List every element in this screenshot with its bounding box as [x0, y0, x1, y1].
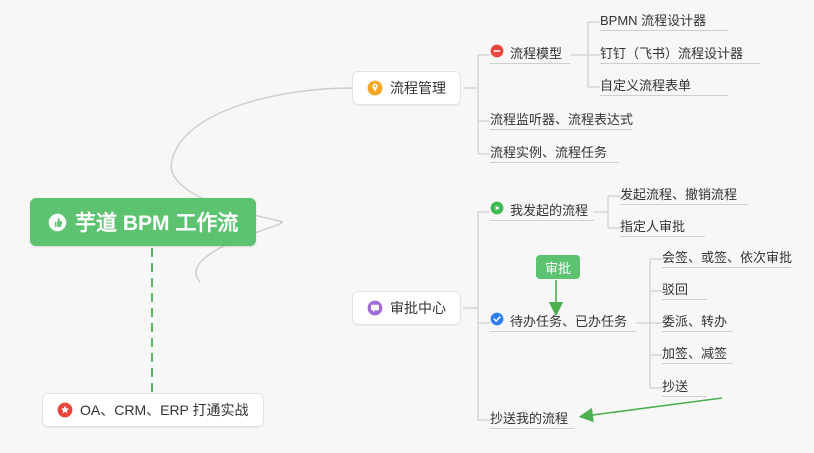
node-cc[interactable]: 抄送 — [662, 376, 707, 397]
node-label: 自定义流程表单 — [600, 75, 691, 94]
node-label: 委派、转办 — [662, 311, 727, 330]
node-listener-expression[interactable]: 流程监听器、流程表达式 — [490, 109, 632, 130]
check-circle-icon — [490, 312, 504, 326]
node-countersign-modes[interactable]: 会签、或签、依次审批 — [662, 247, 791, 268]
node-label: 我发起的流程 — [510, 200, 588, 219]
node-label: 流程管理 — [390, 78, 446, 98]
node-label: 发起流程、撤销流程 — [620, 184, 737, 203]
node-label: 抄送我的流程 — [490, 408, 568, 427]
node-label: 流程实例、流程任务 — [490, 142, 607, 161]
node-cc-to-me[interactable]: 抄送我的流程 — [490, 408, 574, 429]
mindmap-canvas: 芋道 BPM 工作流 流程管理 流程模型 BPMN 流程设计器 钉钉（飞书）流程… — [0, 0, 814, 453]
node-label: 抄送 — [662, 376, 688, 395]
star-circle-icon — [57, 402, 73, 418]
node-label: 会签、或签、依次审批 — [662, 247, 792, 266]
node-todo-done-tasks[interactable]: 待办任务、已办任务 — [490, 311, 636, 332]
node-label: OA、CRM、ERP 打通实战 — [80, 400, 249, 420]
play-circle-icon — [490, 201, 504, 215]
node-label: 流程模型 — [510, 43, 562, 62]
node-bpmn-designer[interactable]: BPMN 流程设计器 — [600, 10, 728, 31]
tag-label: 审批 — [545, 258, 571, 277]
node-custom-form[interactable]: 自定义流程表单 — [600, 75, 728, 96]
node-label: 流程监听器、流程表达式 — [490, 109, 633, 128]
node-process-management[interactable]: 流程管理 — [352, 71, 461, 105]
node-assign-approver[interactable]: 指定人审批 — [620, 216, 705, 237]
tag-approve[interactable]: 审批 — [536, 255, 580, 279]
node-my-started-processes[interactable]: 我发起的流程 — [490, 200, 594, 221]
node-label: 驳回 — [662, 279, 688, 298]
thumbs-up-icon — [48, 213, 67, 232]
root-node[interactable]: 芋道 BPM 工作流 — [30, 198, 256, 246]
node-delegate-transfer[interactable]: 委派、转办 — [662, 311, 733, 332]
node-dingtalk-designer[interactable]: 钉钉（飞书）流程设计器 — [600, 43, 760, 64]
minus-circle-icon — [490, 44, 504, 58]
node-approval-center[interactable]: 审批中心 — [352, 291, 461, 325]
node-integration-footnote[interactable]: OA、CRM、ERP 打通实战 — [42, 393, 264, 427]
node-label: 钉钉（飞书）流程设计器 — [600, 43, 743, 62]
node-process-model[interactable]: 流程模型 — [490, 43, 570, 64]
node-instance-task[interactable]: 流程实例、流程任务 — [490, 142, 619, 163]
node-label: 待办任务、已办任务 — [510, 311, 627, 330]
node-label: 加签、减签 — [662, 343, 727, 362]
root-label: 芋道 BPM 工作流 — [75, 207, 238, 237]
message-circle-icon — [367, 300, 383, 316]
node-add-remove-sign[interactable]: 加签、减签 — [662, 343, 733, 364]
node-label: 指定人审批 — [620, 216, 685, 235]
node-label: 审批中心 — [390, 298, 446, 318]
arrow-cc-to-ccmine — [585, 398, 722, 416]
node-label: BPMN 流程设计器 — [600, 10, 706, 29]
node-start-cancel-process[interactable]: 发起流程、撤销流程 — [620, 184, 748, 205]
node-reject[interactable]: 驳回 — [662, 279, 707, 300]
location-pin-icon — [367, 80, 383, 96]
